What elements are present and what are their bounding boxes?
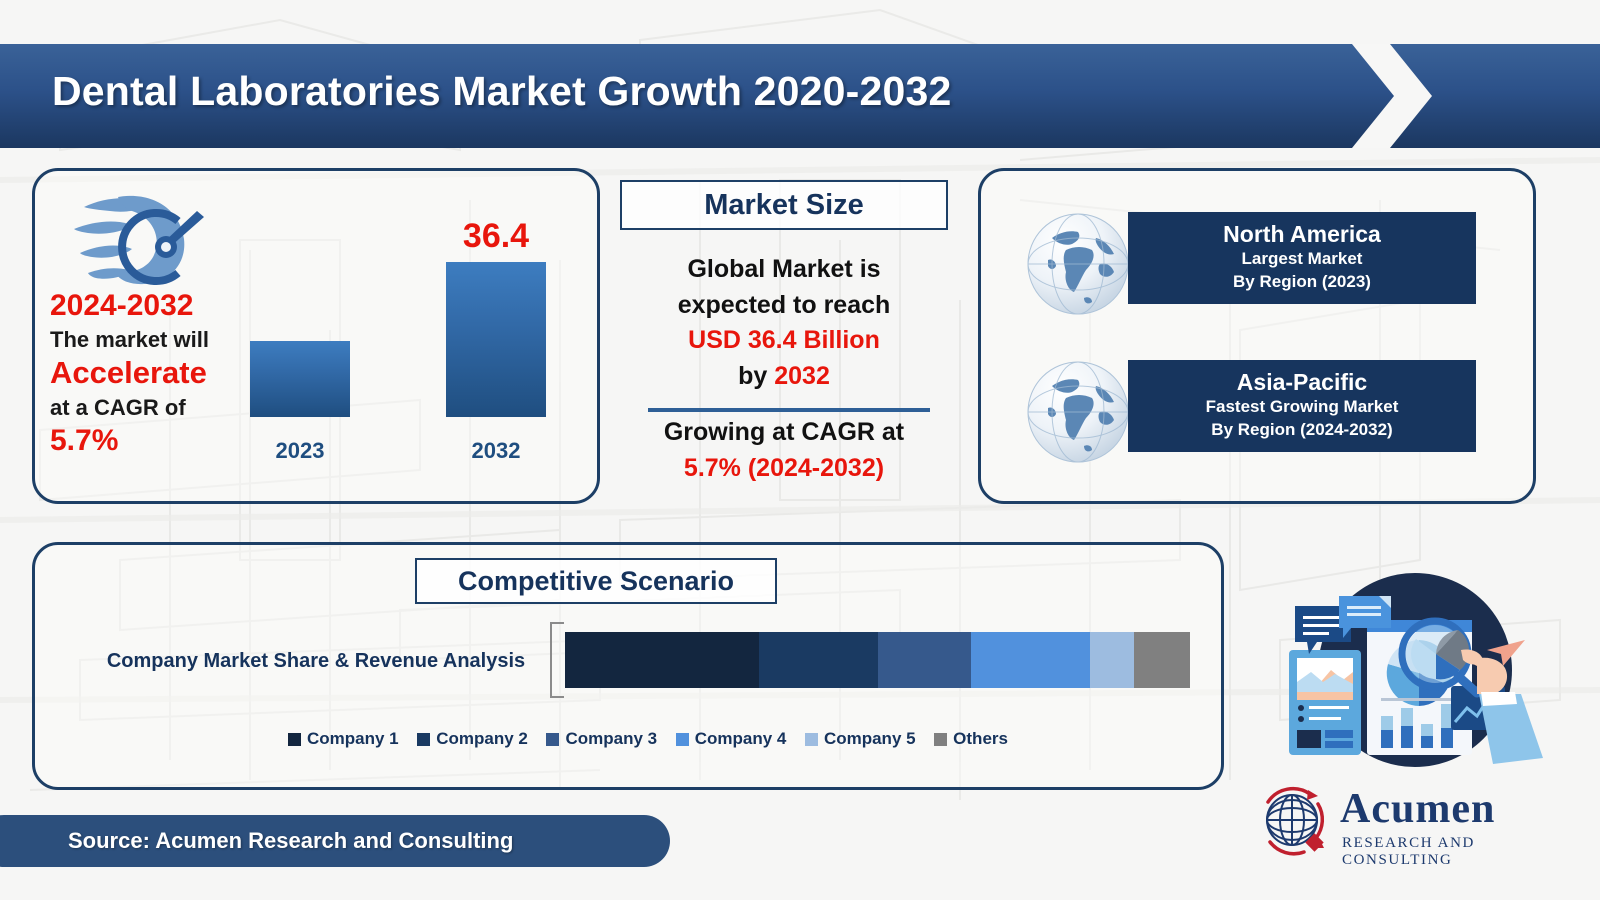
by-year: 2032 — [774, 362, 830, 390]
market-size-footer: Growing at CAGR at 5.7% (2024-2032) — [620, 415, 948, 486]
market-size-line-1: Global Market is — [620, 252, 948, 288]
legend-item: Company 5 — [805, 729, 916, 749]
growth-line-1: The market will — [50, 326, 260, 354]
logo-tagline: RESEARCH AND CONSULTING — [1342, 835, 1544, 869]
source-text: Source: Acumen Research and Consulting — [68, 828, 513, 854]
legend-label: Company 5 — [824, 729, 916, 749]
market-size-title-box: Market Size — [620, 180, 948, 230]
stacked-segment — [1134, 632, 1190, 688]
legend-label: Company 1 — [307, 729, 399, 749]
region-name: Asia-Pacific — [1138, 369, 1466, 396]
region-rank: Fastest Growing Market — [1138, 396, 1466, 418]
legend-label: Others — [953, 729, 1008, 749]
bar-2023 — [250, 341, 350, 417]
market-share-stacked-bar — [565, 632, 1190, 688]
bar-2032 — [446, 262, 546, 417]
region-rank: Largest Market — [1138, 248, 1466, 270]
cagr-line: Growing at CAGR at — [620, 415, 948, 451]
legend-item: Company 3 — [546, 729, 657, 749]
growth-text-block: 2024-2032 The market will Accelerate at … — [50, 290, 260, 459]
market-size-by-line: by 2032 — [620, 359, 948, 395]
globe-icon — [1022, 208, 1134, 320]
speedometer-icon — [58, 185, 208, 290]
growth-years: 2024-2032 — [50, 290, 260, 322]
competitive-title: Competitive Scenario — [458, 566, 734, 597]
stacked-segment — [971, 632, 1090, 688]
market-size-divider — [648, 408, 930, 412]
market-share-legend: Company 1Company 2Company 3Company 4Comp… — [288, 729, 1008, 749]
market-size-title: Market Size — [704, 189, 864, 222]
legend-swatch — [546, 733, 559, 746]
legend-item: Company 4 — [676, 729, 787, 749]
bar-2032-label: 2032 — [436, 438, 556, 464]
globe-logo-icon — [1252, 782, 1336, 862]
legend-label: Company 3 — [565, 729, 657, 749]
legend-swatch — [676, 733, 689, 746]
market-size-body: Global Market is expected to reach USD 3… — [620, 252, 948, 394]
bar-2023-label: 2023 — [240, 438, 360, 464]
acumen-logo: Acumen RESEARCH AND CONSULTING — [1252, 782, 1544, 866]
stacked-segment — [759, 632, 878, 688]
legend-label: Company 2 — [436, 729, 528, 749]
legend-swatch — [805, 733, 818, 746]
growth-cagr-value: 5.7% — [50, 423, 260, 459]
legend-label: Company 4 — [695, 729, 787, 749]
legend-swatch — [417, 733, 430, 746]
legend-item: Company 2 — [417, 729, 528, 749]
stacked-segment — [1090, 632, 1134, 688]
legend-swatch — [288, 733, 301, 746]
region-period: By Region (2023) — [1138, 271, 1466, 293]
stacked-segment — [878, 632, 972, 688]
cagr-value: 5.7% (2024-2032) — [620, 451, 948, 487]
competitive-axis-label: Company Market Share & Revenue Analysis — [90, 650, 542, 673]
logo-wordmark: Acumen — [1340, 788, 1495, 830]
axis-bracket — [550, 622, 564, 698]
page-title: Dental Laboratories Market Growth 2020-2… — [52, 68, 952, 115]
market-size-amount: USD 36.4 Billion — [620, 323, 948, 359]
stacked-segment — [565, 632, 759, 688]
region-period: By Region (2024-2032) — [1138, 419, 1466, 441]
region-band-north-america: North America Largest Market By Region (… — [1128, 212, 1476, 304]
growth-line-2: at a CAGR of — [50, 394, 260, 422]
bar-2032-value: 36.4 — [426, 217, 566, 256]
legend-swatch — [934, 733, 947, 746]
by-prefix: by — [738, 362, 774, 390]
globe-icon — [1022, 356, 1134, 468]
region-band-asia-pacific: Asia-Pacific Fastest Growing Market By R… — [1128, 360, 1476, 452]
infographic-canvas: Dental Laboratories Market Growth 2020-2… — [0, 0, 1600, 900]
legend-item: Others — [934, 729, 1008, 749]
data-analysis-illustration — [1255, 558, 1545, 773]
legend-item: Company 1 — [288, 729, 399, 749]
market-size-line-2: expected to reach — [620, 288, 948, 324]
region-name: North America — [1138, 221, 1466, 248]
growth-accelerate: Accelerate — [50, 355, 260, 392]
source-pill: Source: Acumen Research and Consulting — [0, 815, 670, 867]
competitive-title-box: Competitive Scenario — [415, 558, 777, 604]
